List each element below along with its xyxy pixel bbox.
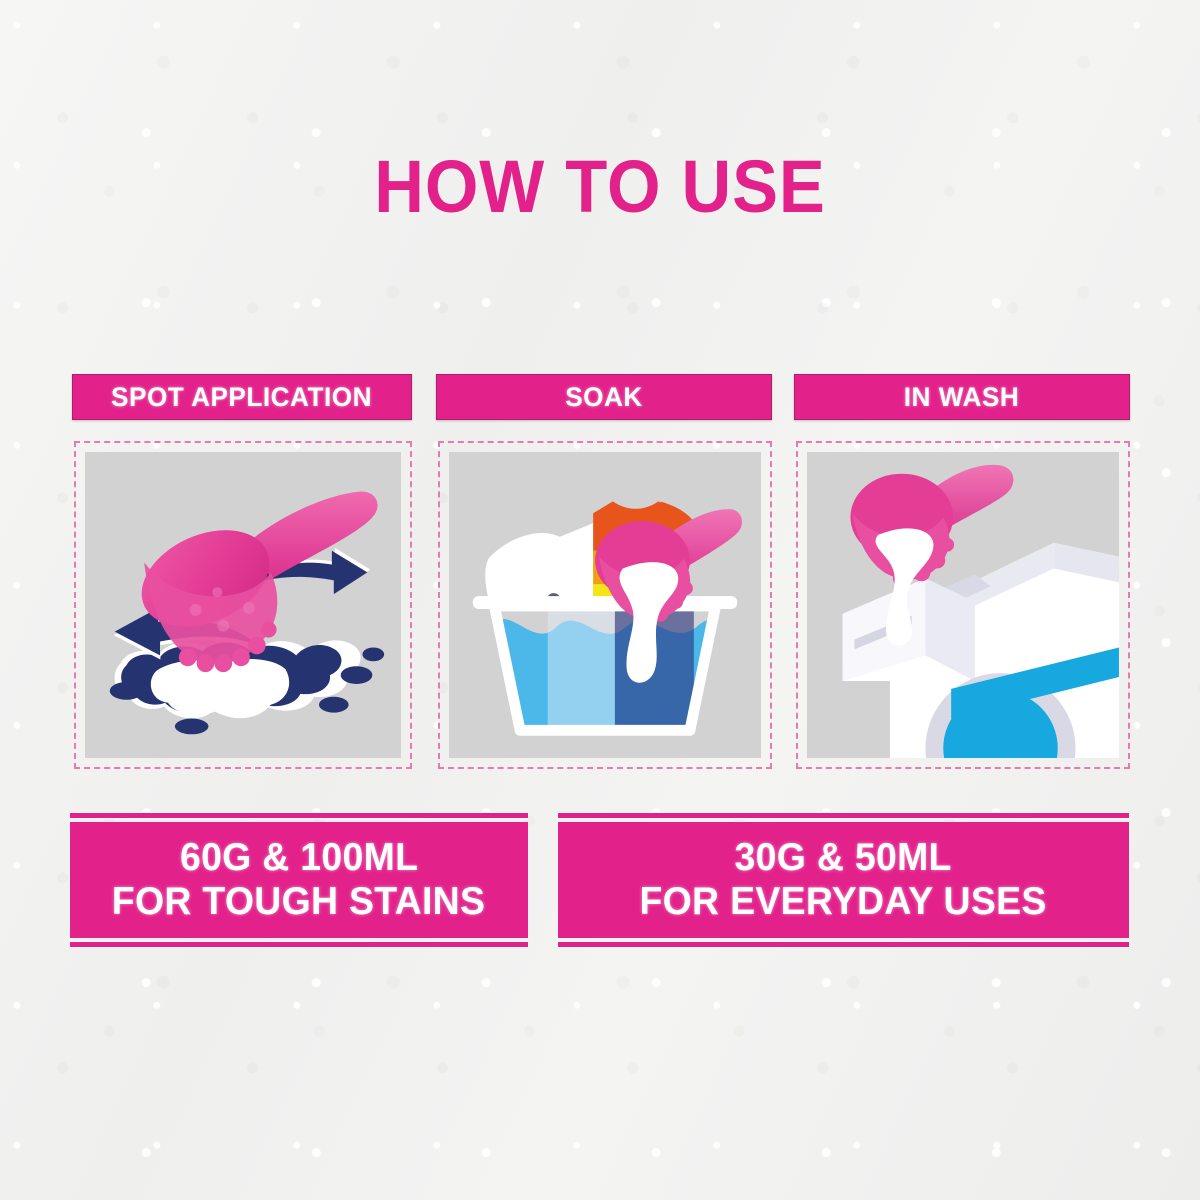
panel-background — [85, 452, 401, 758]
dosage-box-everyday-uses: 30G & 50ML FOR EVERYDAY USES — [558, 812, 1129, 948]
step-header-in-wash: IN WASH — [794, 374, 1130, 420]
dosage-content: 30G & 50ML FOR EVERYDAY USES — [558, 822, 1129, 938]
dosage-amount: 30G & 50ML — [735, 836, 952, 880]
dosage-amount: 60G & 100ML — [180, 836, 418, 880]
dosage-usage: FOR TOUGH STAINS — [112, 880, 485, 924]
dosage-usage: FOR EVERYDAY USES — [640, 880, 1047, 924]
basin-soak-icon — [449, 452, 761, 758]
page-title: HOW TO USE — [42, 148, 1158, 226]
washing-machine-drawer-icon — [807, 452, 1119, 758]
step-header-soak: SOAK — [436, 374, 772, 420]
step-header-label: IN WASH — [904, 382, 1019, 413]
dosage-rule-top — [558, 812, 1129, 819]
scoop-rubbing-stain-icon — [85, 452, 401, 758]
step-header-label: SPOT APPLICATION — [112, 382, 373, 413]
step-panel-soak — [438, 441, 772, 769]
dosage-rule-bottom — [70, 941, 528, 948]
dosage-rule-top — [70, 812, 528, 819]
dosage-box-tough-stains: 60G & 100ML FOR TOUGH STAINS — [70, 812, 528, 948]
dosage-rule-bottom — [558, 941, 1129, 948]
dosage-content: 60G & 100ML FOR TOUGH STAINS — [70, 822, 528, 938]
step-panel-in-wash — [796, 441, 1130, 769]
step-panel-spot-application — [74, 441, 412, 769]
panel-background — [449, 452, 761, 758]
infographic-stage: HOW TO USE SPOT APPLICATION SOAK IN WASH — [0, 0, 1200, 1200]
panel-background — [807, 452, 1119, 758]
step-header-label: SOAK — [565, 382, 643, 413]
step-header-spot-application: SPOT APPLICATION — [72, 374, 412, 420]
